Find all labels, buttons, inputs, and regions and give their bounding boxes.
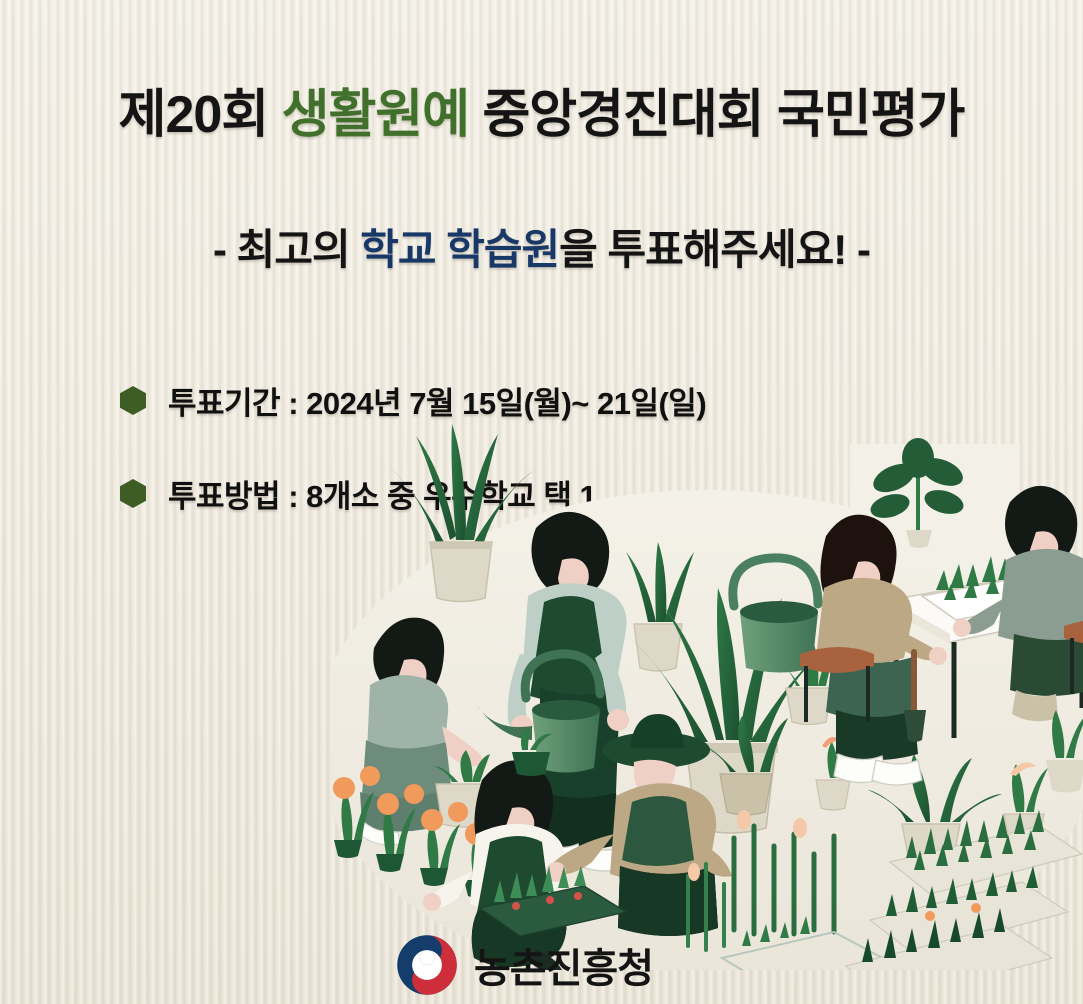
subtitle-highlight: 학교 학습원: [360, 226, 559, 273]
page-title: 제20회 생활원예 중앙경진대회 국민평가: [0, 86, 1083, 144]
taegeuk-icon: [396, 934, 458, 996]
organization-name: 농촌진흥청: [474, 936, 653, 994]
gardening-scene-illustration: [330, 410, 1083, 970]
title-part-2: 중앙경진대회 국민평가: [469, 86, 964, 144]
title-block: 제20회 생활원예 중앙경진대회 국민평가: [0, 86, 1083, 144]
title-highlight: 생활원예: [282, 86, 469, 144]
hexagon-bullet-icon: [120, 386, 146, 415]
poster-root: 제20회 생활원예 중앙경진대회 국민평가 - 최고의 학교 학습원을 투표해주…: [0, 0, 1083, 1004]
organization-logo: 농촌진흥청: [396, 934, 653, 996]
subtitle-part-1: - 최고의: [213, 226, 360, 273]
subtitle-part-2: 을 투표해주세요! -: [559, 226, 870, 273]
page-subtitle: - 최고의 학교 학습원을 투표해주세요! -: [0, 226, 1083, 274]
hexagon-bullet-icon: [120, 479, 146, 508]
title-part-1: 제20회: [119, 86, 282, 144]
